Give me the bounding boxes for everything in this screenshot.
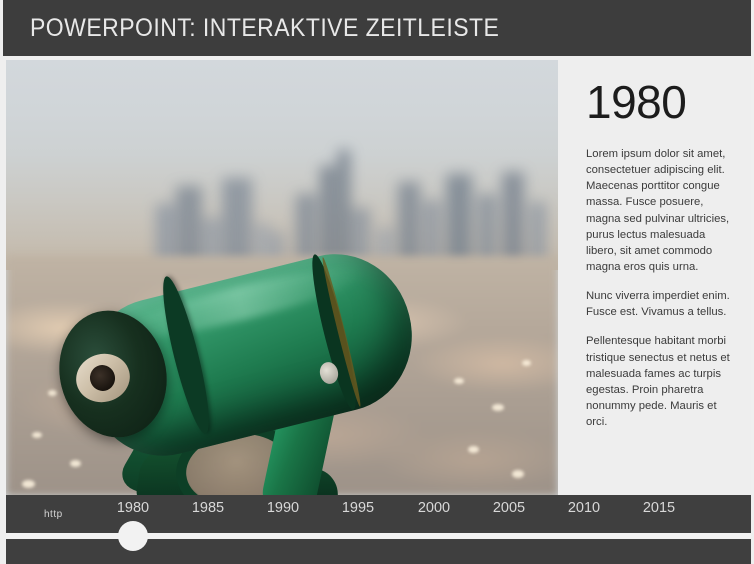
slide-header: POWERPOINT: INTERAKTIVE ZEITLEISTE: [3, 0, 754, 56]
description-paragraph: Nunc viverra imperdiet enim. Fusce est. …: [586, 288, 732, 320]
description-paragraph: Pellentesque habitant morbi tristique se…: [586, 333, 732, 430]
description-text: Lorem ipsum dolor sit amet, consectetuer…: [586, 146, 732, 430]
page-title: POWERPOINT: INTERAKTIVE ZEITLEISTE: [30, 14, 499, 43]
feature-photo: [6, 60, 558, 495]
timeline-control[interactable]: http 19801985199019952000200520102015: [6, 495, 754, 564]
timeline-tick-1985[interactable]: 1985: [192, 500, 224, 516]
timeline-tick-2000[interactable]: 2000: [418, 500, 450, 516]
slide-canvas: POWERPOINT: INTERAKTIVE ZEITLEISTE: [0, 0, 754, 564]
description-paragraph: Lorem ipsum dolor sit amet, consectetuer…: [586, 146, 732, 275]
timeline-tick-1995[interactable]: 1995: [342, 500, 374, 516]
timeline-tick-2015[interactable]: 2015: [643, 500, 675, 516]
timeline-tick-1990[interactable]: 1990: [267, 500, 299, 516]
timeline-tick-2010[interactable]: 2010: [568, 500, 600, 516]
timeline-handle[interactable]: [118, 521, 148, 551]
timeline-tick-1980[interactable]: 1980: [117, 500, 149, 516]
source-label: http: [44, 509, 63, 520]
detail-panel: 1980 Lorem ipsum dolor sit amet, consect…: [558, 60, 754, 495]
telescope-illustration: [6, 60, 558, 495]
timeline-tick-2005[interactable]: 2005: [493, 500, 525, 516]
year-heading: 1980: [586, 79, 732, 125]
slide-stage: 1980 Lorem ipsum dolor sit amet, consect…: [6, 60, 754, 495]
